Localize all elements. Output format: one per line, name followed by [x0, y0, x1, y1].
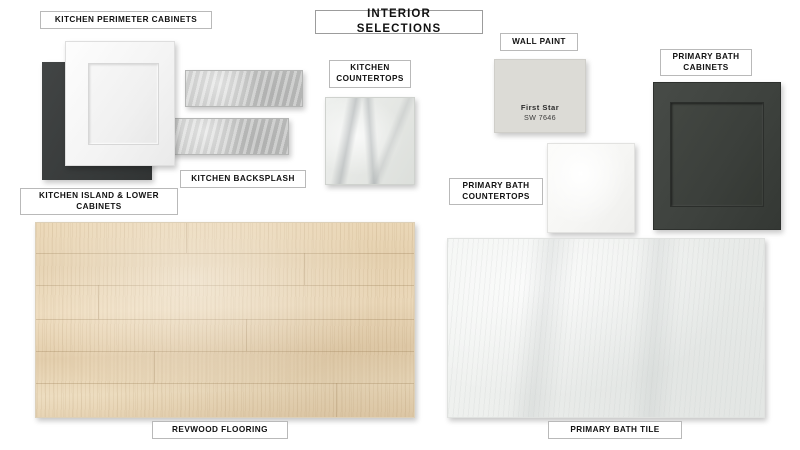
label-primary-bath-cabinets: PRIMARY BATH CABINETS — [660, 49, 752, 76]
flooring-plank-seam — [36, 383, 414, 384]
label-revwood-flooring: REVWOOD FLOORING — [152, 421, 288, 439]
label-wall-paint: WALL PAINT — [500, 33, 578, 51]
flooring-plank-seam — [36, 319, 414, 320]
swatch-primary-bath-countertop[interactable] — [547, 143, 635, 233]
label-primary-bath-countertops: PRIMARY BATH COUNTERTOPS — [449, 178, 543, 205]
flooring-plank-end — [246, 319, 247, 351]
flooring-plank-end — [304, 253, 305, 285]
flooring-plank-seam — [36, 351, 414, 352]
label-kitchen-island-lower-cabinets: KITCHEN ISLAND & LOWER CABINETS — [20, 188, 178, 215]
bath-cabinet-door-center-panel — [670, 102, 763, 207]
swatch-kitchen-backsplash-tile-upper[interactable] — [185, 70, 303, 107]
flooring-plank-end — [336, 383, 337, 418]
paint-color-code: SW 7646 — [524, 113, 556, 123]
swatch-kitchen-countertop[interactable] — [325, 97, 415, 185]
swatch-primary-bath-tile[interactable] — [447, 238, 765, 418]
flooring-plank-seam — [36, 285, 414, 286]
paint-color-name: First Star — [521, 102, 559, 113]
swatch-kitchen-backsplash-tile-lower[interactable] — [171, 118, 289, 155]
label-kitchen-backsplash: KITCHEN BACKSPLASH — [180, 170, 306, 188]
flooring-plank-seam — [36, 253, 414, 254]
label-kitchen-countertops: KITCHEN COUNTERTOPS — [329, 60, 411, 88]
swatch-kitchen-perimeter-cabinet-door[interactable] — [65, 41, 175, 166]
swatch-wall-paint-chip[interactable]: First Star SW 7646 — [494, 59, 586, 133]
swatch-primary-bath-cabinet-door[interactable] — [653, 82, 781, 230]
flooring-plank-end — [98, 285, 99, 319]
cabinet-door-center-panel — [88, 63, 159, 145]
label-primary-bath-tile: PRIMARY BATH TILE — [548, 421, 682, 439]
swatch-revwood-flooring[interactable] — [35, 222, 415, 418]
interior-selections-board: INTERIOR SELECTIONS KITCHEN PERIMETER CA… — [0, 0, 800, 450]
bath-tile-sheen — [448, 239, 764, 417]
flooring-plank-end — [186, 223, 187, 253]
label-kitchen-perimeter-cabinets: KITCHEN PERIMETER CABINETS — [40, 11, 212, 29]
flooring-plank-end — [154, 351, 155, 383]
board-title: INTERIOR SELECTIONS — [315, 10, 483, 34]
